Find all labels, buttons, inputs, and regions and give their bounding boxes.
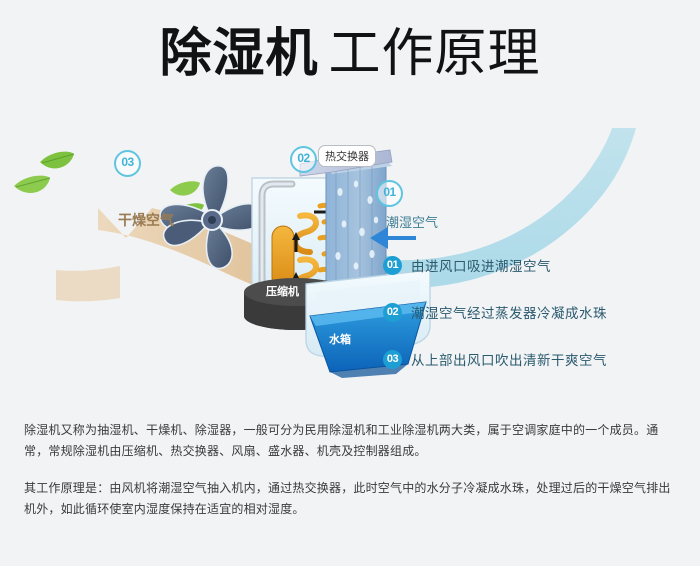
- legend-badge-03: 03: [383, 350, 402, 369]
- legend-badge-01: 01: [383, 256, 402, 275]
- label-heat-exchanger: 热交换器: [318, 145, 376, 167]
- body-paragraph-2: 其工作原理是：由风机将潮湿空气抽入机内，通过热交换器，此时空气中的水分子冷凝成水…: [24, 478, 679, 520]
- label-water-tank: 水箱: [329, 331, 351, 347]
- label-dry-air: 干燥空气: [118, 210, 174, 230]
- body-copy: 除湿机又称为抽湿机、干燥机、除湿器，一般可分为民用除湿机和工业除湿机两大类，属于…: [24, 420, 679, 520]
- legend-text-03: 从上部出风口吹出清新干爽空气: [411, 349, 607, 369]
- diagram-badge-01: 01: [376, 180, 403, 207]
- diagram-badge-02: 02: [290, 146, 317, 173]
- label-humid-air: 潮湿空气: [386, 212, 438, 231]
- body-paragraph-1: 除湿机又称为抽湿机、干燥机、除湿器，一般可分为民用除湿机和工业除湿机两大类，属于…: [24, 420, 679, 462]
- legend-item-03: 03 从上部出风口吹出清新干爽空气: [383, 349, 683, 369]
- legend-list: 01 由进风口吸进潮湿空气 02 潮湿空气经过蒸发器冷凝成水珠 03 从上部出风…: [383, 255, 683, 396]
- title-part-two: 工作原理: [329, 25, 541, 83]
- legend-item-02: 02 潮湿空气经过蒸发器冷凝成水珠: [383, 302, 683, 322]
- legend-text-01: 由进风口吸进潮湿空气: [411, 255, 551, 275]
- label-compressor: 压缩机: [266, 283, 299, 299]
- infographic-canvas: 除湿机工作原理: [0, 0, 700, 566]
- legend-item-01: 01 由进风口吸进潮湿空气: [383, 255, 683, 275]
- page-title: 除湿机工作原理: [0, 28, 700, 80]
- title-part-one: 除湿机: [159, 25, 318, 83]
- legend-text-02: 潮湿空气经过蒸发器冷凝成水珠: [411, 302, 607, 322]
- legend-badge-02: 02: [383, 303, 402, 322]
- diagram-badge-03: 03: [114, 150, 141, 177]
